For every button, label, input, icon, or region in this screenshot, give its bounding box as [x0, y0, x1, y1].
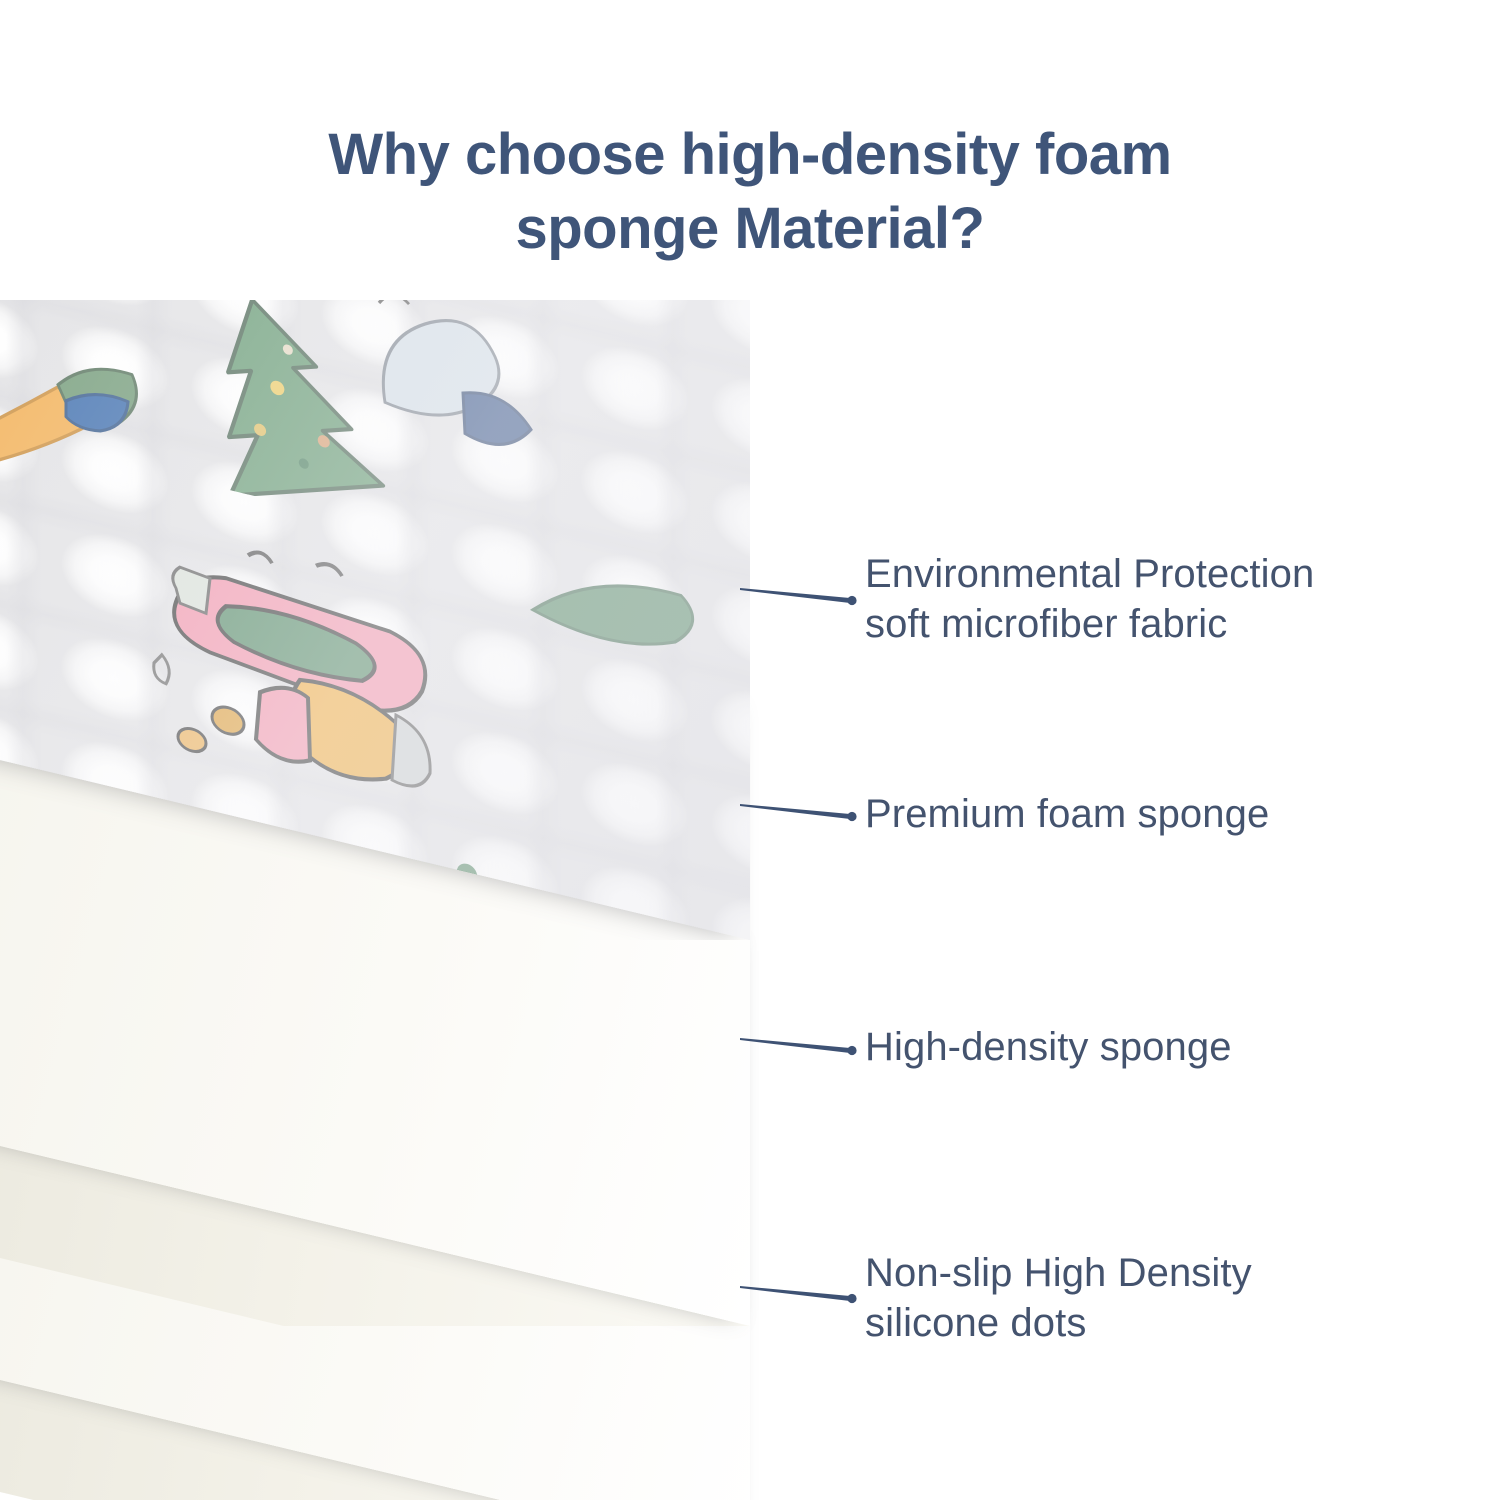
callout-line-2: silicone dots [865, 1298, 1252, 1348]
callout-line-2: soft microfiber fabric [865, 599, 1314, 649]
callout-label-premium-foam-sponge: Premium foam sponge [865, 789, 1269, 839]
leader-line-silicone-dots [738, 1268, 863, 1324]
leader-line-premium-foam-sponge [738, 786, 863, 842]
callout-label-microfiber-fabric: Environmental Protection soft microfiber… [865, 549, 1314, 650]
leader-line-high-density-sponge [738, 1020, 863, 1076]
quilted-fabric-sheet [0, 300, 750, 940]
callout-line-1: Premium foam sponge [865, 792, 1269, 836]
leader-line-microfiber-fabric [738, 570, 863, 626]
fabric-lighting-overlay [0, 300, 750, 940]
layer-microfiber-fabric [0, 300, 750, 940]
callout-line-1: Environmental Protection [865, 552, 1314, 596]
callout-line-1: Non-slip High Density [865, 1251, 1252, 1295]
callout-label-silicone-dots: Non-slip High Density silicone dots [865, 1248, 1252, 1349]
callout-line-1: High-density sponge [865, 1025, 1232, 1069]
callout-label-high-density-sponge: High-density sponge [865, 1022, 1232, 1072]
infographic-root: Why choose high-density foam sponge Mate… [0, 0, 1500, 1500]
